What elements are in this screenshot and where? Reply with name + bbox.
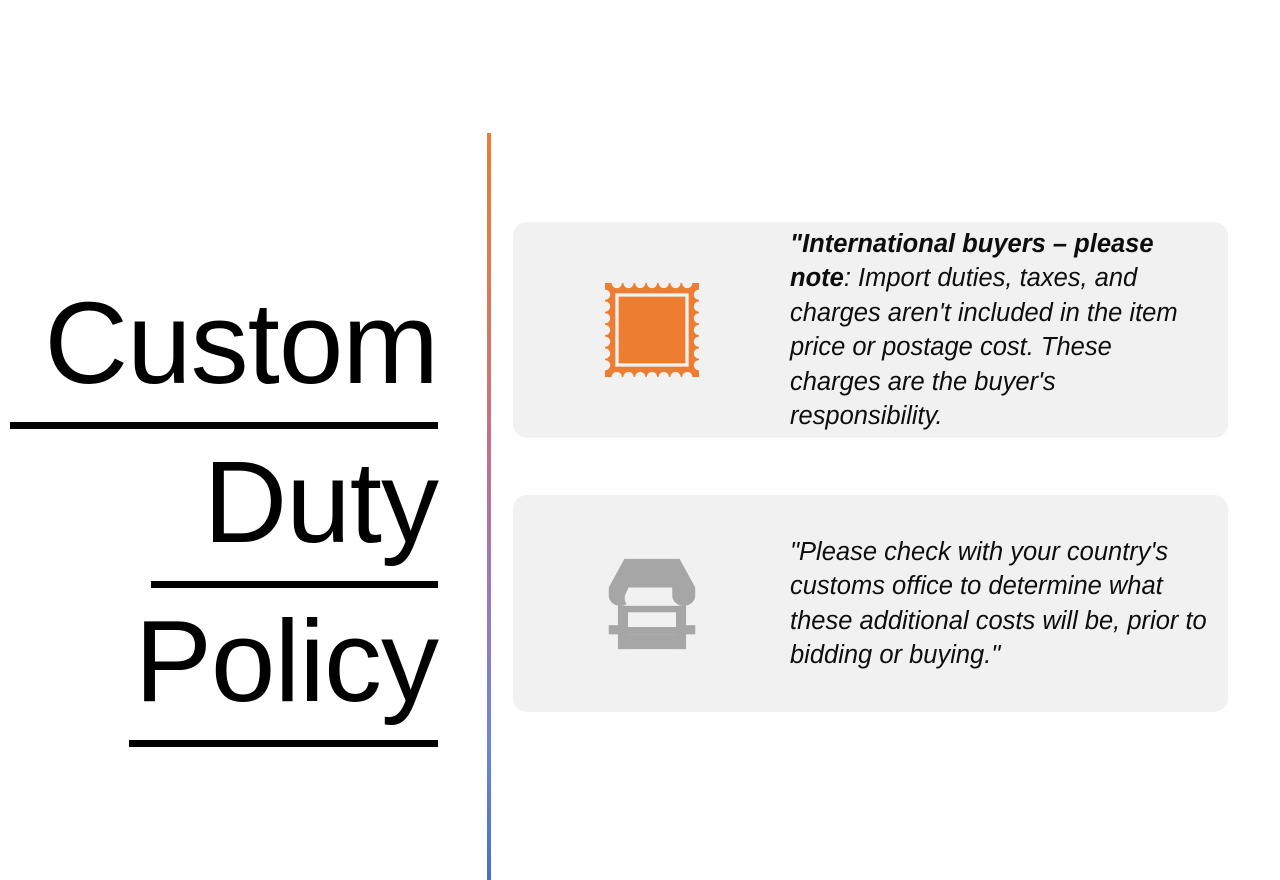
card-2-text: "Please check with your country's custom… [790, 535, 1228, 673]
slide-canvas: Custom Duty Policy [0, 0, 1280, 880]
postage-stamp-icon [605, 283, 699, 377]
card-1-text: "International buyers – please note: Imp… [790, 227, 1228, 434]
vertical-gradient-divider [487, 133, 491, 880]
title-word-duty: Duty [151, 429, 438, 588]
card-1-text-rest: : Import duties, taxes, and charges aren… [790, 264, 1178, 430]
card-2-text-rest: "Please check with your country's custom… [790, 538, 1207, 670]
title-word-custom: Custom [10, 270, 438, 429]
card-2-icon-container [513, 557, 790, 651]
page-title: Custom Duty Policy [0, 270, 438, 747]
title-line-1: Custom [0, 270, 438, 429]
title-word-policy: Policy [129, 588, 438, 747]
title-line-2: Duty [0, 429, 438, 588]
info-card-1: "International buyers – please note: Imp… [513, 222, 1228, 438]
title-line-3: Policy [0, 588, 438, 747]
storefront-icon [606, 557, 698, 651]
info-card-2: "Please check with your country's custom… [513, 495, 1228, 712]
card-1-icon-container [513, 283, 790, 377]
